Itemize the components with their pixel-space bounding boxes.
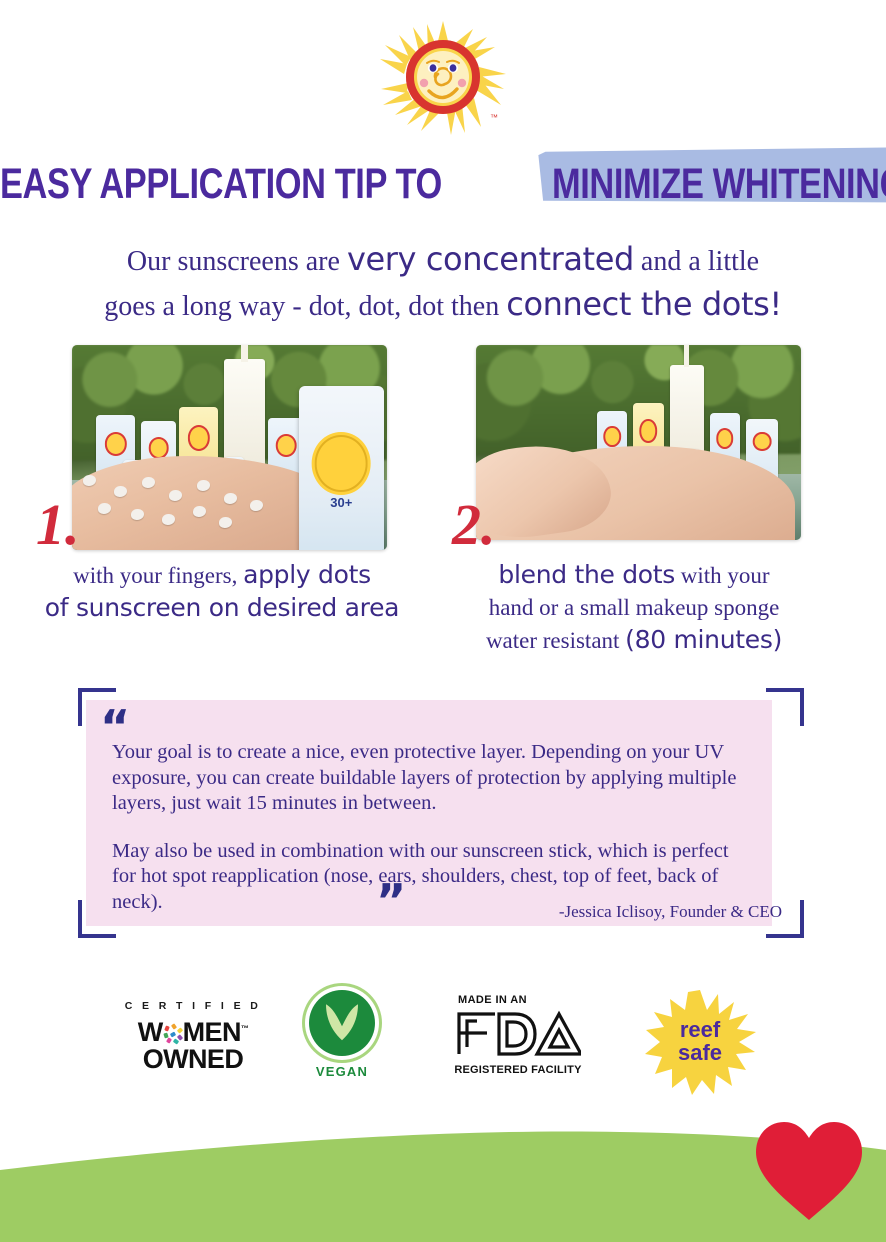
quote-paragraph-1: Your goal is to create a nice, even prot… (112, 740, 752, 817)
bottle-sun-icon (315, 435, 368, 492)
headline-plain: EASY APPLICATION TIP TO (0, 160, 442, 208)
reef-safe-line-2: safe (644, 1041, 756, 1064)
quote-bracket-top-right (766, 688, 804, 726)
reef-safe-line-1: reef (644, 1018, 756, 1041)
subheading-line-2: goes a long way - dot, dot, dot then con… (0, 285, 886, 330)
reef-safe-text: reef safe (644, 1018, 756, 1064)
vegan-circle (309, 990, 375, 1056)
subheading-line2-emphasis: connect the dots! (506, 285, 782, 323)
page-title: EASY APPLICATION TIP TO MINIMIZE WHITENI… (0, 160, 886, 208)
step-2-caption-l1-reg: with your (675, 563, 770, 588)
subheading-line2-part1: goes a long way - dot, dot, dot then (104, 291, 506, 322)
founder-quote-section: “ Your goal is to create a nice, even pr… (72, 688, 814, 944)
fda-top-label: MADE IN AN (452, 994, 584, 1006)
confetti-icon (163, 1024, 183, 1044)
quote-attribution: -Jessica Iclisoy, Founder & CEO (559, 902, 782, 922)
step-1-caption-l2: of sunscreen on desired area (45, 593, 399, 622)
subheading-line-1: Our sunscreens are very concentrated and… (0, 240, 886, 285)
vegan-label: VEGAN (296, 1064, 388, 1079)
headline-highlight-text: MINIMIZE WHITENING (552, 160, 886, 208)
badge-fda-registered: MADE IN AN REGISTERED FACILITY (452, 988, 584, 1076)
fda-icon (455, 1009, 581, 1057)
sunscreen-dots (78, 468, 299, 542)
step-2-caption-line-1: blend the dots with your (434, 560, 834, 593)
bottle-spf-label: 30+ (299, 495, 384, 510)
page-root: ™ EASY APPLICATION TIP TO MINIMIZE WHITE… (0, 0, 886, 1242)
subheading: Our sunscreens are very concentrated and… (0, 240, 886, 330)
sun-face-logo-icon: ™ (377, 19, 509, 137)
trademark-mark: ™ (490, 113, 498, 122)
step-2-number: 2. (452, 496, 496, 554)
fda-bottom-label: REGISTERED FACILITY (452, 1064, 584, 1076)
step-1-photo: 30+ (72, 345, 387, 550)
quote-bracket-bottom-left (78, 900, 116, 938)
women-owned-women-label: WMEN™ (138, 1015, 249, 1046)
certification-badges: C E R T I F I E D WMEN™ OWNED VEGAN MADE… (0, 988, 886, 1098)
quote-close-mark: ” (376, 878, 406, 924)
featured-sunscreen-bottle: 30+ (299, 386, 384, 550)
step-2-caption-line-2: hand or a small makeup sponge (434, 593, 834, 625)
step-2-caption-line-3: water resistant (80 minutes) (434, 625, 834, 658)
step-2-caption: blend the dots with your hand or a small… (434, 560, 834, 658)
step-1-caption-line-1: with your fingers, apply dots (22, 560, 422, 593)
step-2-caption-l3-emphasis: (80 minutes) (625, 625, 782, 654)
fda-logo-mark (452, 1009, 584, 1062)
step-2-caption-l1-emphasis: blend the dots (498, 560, 675, 589)
badge-vegan: VEGAN (296, 988, 388, 1079)
step-1-caption-l1-emphasis: apply dots (243, 560, 371, 589)
women-owned-owned-label: OWNED (118, 1046, 268, 1073)
step-1-caption-line-2: of sunscreen on desired area (22, 593, 422, 626)
subheading-line1-emphasis: very concentrated (347, 240, 634, 278)
women-owned-w: W (138, 1017, 163, 1047)
step-2-photo (476, 345, 801, 540)
brand-logo: ™ (0, 18, 886, 138)
subheading-line1-part1: Our sunscreens are (127, 246, 347, 277)
step-1-caption-l1-reg: with your fingers, (73, 563, 243, 588)
headline-highlight: MINIMIZE WHITENING (552, 160, 886, 208)
heart-icon (752, 1114, 866, 1224)
women-owned-tm: ™ (241, 1024, 248, 1033)
step-2-caption-l3-reg: water resistant (486, 628, 625, 653)
women-owned-men: MEN (183, 1017, 241, 1047)
step-1-caption: with your fingers, apply dots of sunscre… (22, 560, 422, 626)
step-1-number: 1. (36, 496, 80, 554)
badge-reef-safe: reef safe (644, 988, 756, 1096)
vegan-leaf-icon (323, 1002, 361, 1042)
subheading-line1-part3: and a little (634, 246, 759, 277)
women-owned-certified-label: C E R T I F I E D (118, 1000, 268, 1012)
badge-certified-women-owned: C E R T I F I E D WMEN™ OWNED (118, 988, 268, 1073)
step-2-caption-l2: hand or a small makeup sponge (489, 595, 780, 620)
